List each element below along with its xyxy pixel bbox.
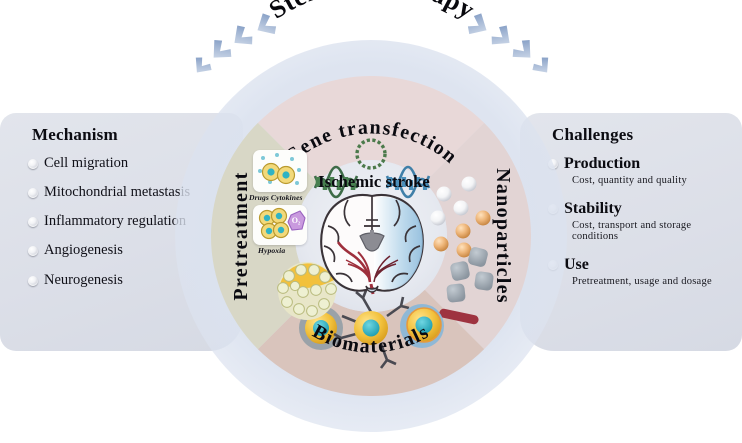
nanoparticle-cube bbox=[474, 271, 494, 291]
nanoparticle-sphere bbox=[431, 211, 446, 226]
pretreatment-card-hypoxia: O₂ bbox=[253, 205, 307, 245]
mechanism-item-label: Mitochondrial metastasis bbox=[44, 183, 190, 201]
challenges-item-label: Use bbox=[564, 255, 589, 275]
svg-text:Pretreatment: Pretreatment bbox=[230, 171, 252, 300]
challenges-item-subtext: Cost, transport and storage conditions bbox=[572, 220, 734, 242]
challenges-item-use: Use bbox=[548, 255, 734, 275]
pretreatment-caption-drugs-cytokines: Drugs Cytokines bbox=[249, 193, 303, 202]
oxygen-badge-icon: O₂ bbox=[288, 211, 305, 230]
chevron-left-group bbox=[189, 11, 279, 79]
label-pretreatment: Pretreatment bbox=[230, 171, 252, 300]
nanoparticle-cube bbox=[446, 283, 466, 303]
main-title: Stem cell therapy bbox=[264, 0, 480, 25]
bullet-sphere-icon bbox=[28, 217, 38, 227]
brain-ischemic-region bbox=[374, 197, 423, 290]
chevron-right-group bbox=[465, 11, 555, 79]
biomaterial-nucleus bbox=[363, 320, 380, 337]
oxygen-label: O₂ bbox=[292, 216, 301, 225]
ischemic-stroke-label: Ischemic stroke bbox=[311, 172, 437, 192]
challenges-item-subtext: Cost, quantity and quality bbox=[572, 175, 734, 186]
diagram-canvas: Mechanism Cell migration Mitochondrial m… bbox=[0, 0, 742, 443]
challenges-item-label: Production bbox=[564, 154, 640, 174]
mechanism-item-label: Neurogenesis bbox=[44, 271, 123, 289]
nanoparticle-sphere-gold bbox=[456, 224, 471, 239]
mechanism-item-label: Inflammatory regulation bbox=[44, 212, 186, 230]
nanoparticle-sphere-gold bbox=[476, 211, 491, 226]
svg-text:Nanoparticles: Nanoparticles bbox=[492, 168, 514, 304]
bullet-sphere-icon bbox=[28, 159, 38, 169]
main-title-text: Stem cell therapy bbox=[264, 0, 480, 25]
challenges-item-stability: Stability bbox=[548, 199, 734, 219]
nanoparticle-sphere bbox=[437, 187, 452, 202]
mechanism-item-label: Angiogenesis bbox=[44, 241, 123, 259]
nanoparticle-sphere bbox=[454, 201, 469, 216]
bullet-sphere-icon bbox=[28, 188, 38, 198]
challenges-item-label: Stability bbox=[564, 199, 622, 219]
bullet-sphere-icon bbox=[28, 246, 38, 256]
challenges-item-production: Production bbox=[548, 154, 734, 174]
label-nanoparticles: Nanoparticles bbox=[492, 168, 514, 304]
bullet-sphere-icon bbox=[28, 276, 38, 286]
brain-illustration bbox=[312, 190, 432, 305]
pretreatment-card-drugs-cytokines bbox=[253, 150, 307, 192]
hypoxia-cells-icon bbox=[260, 209, 289, 239]
mechanism-item-label: Cell migration bbox=[44, 154, 128, 172]
challenges-heading: Challenges bbox=[552, 125, 734, 145]
treated-cells-icon bbox=[263, 164, 295, 184]
nanoparticle-sphere-gold bbox=[434, 237, 449, 252]
pretreatment-caption-hypoxia: Hypoxia bbox=[258, 246, 285, 255]
nanoparticle-sphere bbox=[462, 177, 477, 192]
challenges-item-subtext: Pretreatment, usage and dosage bbox=[572, 276, 734, 287]
